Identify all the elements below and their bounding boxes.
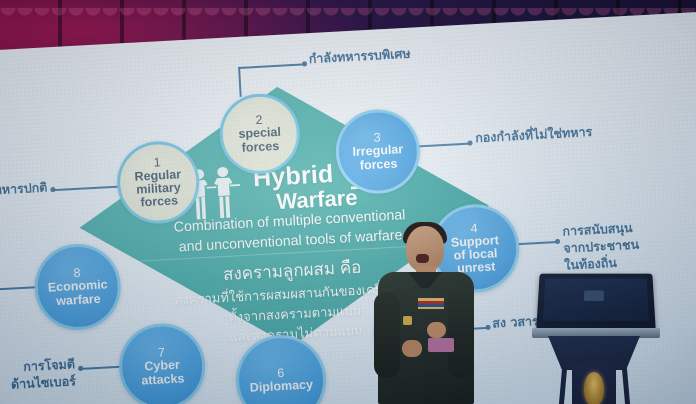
connector-node1 [53,186,119,191]
speaker-right-hand [427,322,446,338]
node-8-label-2: warfare [56,292,101,308]
connector-node2-v [238,67,241,97]
callout-node1: กำลังทหารปกติ [0,179,48,201]
podium-monitor-logo [584,290,604,301]
military-officer-speaker [372,222,480,404]
podium-right-leg [622,368,631,404]
speaker-mouth [416,254,429,263]
podium-left-leg [558,368,567,404]
connector-dot-node7 [78,366,83,371]
speaker-right-arm [448,292,474,378]
connector-node2-h [238,63,304,68]
connector-node7 [81,366,121,370]
connector-dot-node2 [302,61,307,66]
connector-dot-node1 [50,187,55,192]
connector-dot-node5 [485,325,490,330]
speaker-ribbon-bar [418,298,444,309]
callout-node2: กำลังทหารรบพิเศษ [308,41,489,68]
podium-gold-emblem [584,372,604,404]
node-1-label-3: forces [140,195,178,210]
lectern-with-monitor [520,272,670,404]
callout-node4: การสนับสนุน จากประชาชน ในท้องถิ่น [562,217,685,274]
node-6-label-1: Diplomacy [250,378,314,395]
callout-node7: การโจมตี ด้านไซเบอร์ [0,356,76,397]
connector-dot-node3 [467,140,472,145]
node-7-label-2: attacks [141,372,185,388]
connector-node8 [0,286,37,290]
node-3-label-2: forces [359,157,397,172]
callout-node3: กองกำลังที่ไม่ใช่ทหาร [475,120,666,147]
screenshot-root: Hybrid Warfare = Combination of multiple… [0,0,696,404]
speaker-left-arm [374,292,400,378]
speaker-badge [403,316,412,325]
speaker-left-hand [402,340,422,357]
connector-node3 [412,143,470,148]
connector-dot-node4 [555,239,560,244]
podium-monitor [536,274,655,330]
speaker-name-tag [428,338,454,352]
node-2-label-2: forces [241,140,279,155]
